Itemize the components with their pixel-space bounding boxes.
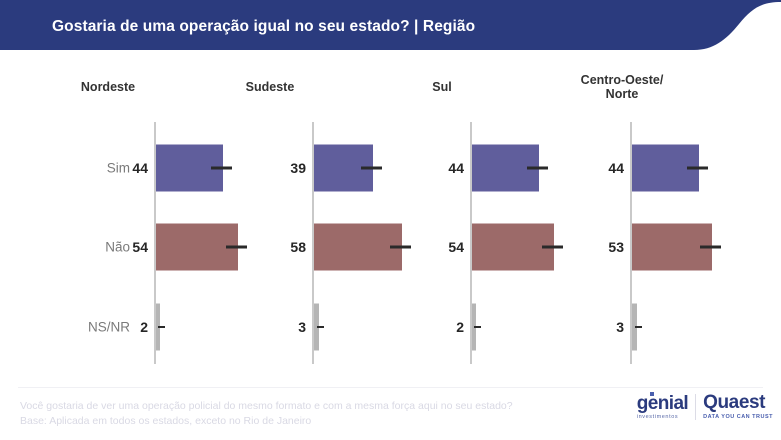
error-bar-nsnr <box>635 326 642 328</box>
value-label-nao: 53 <box>590 239 624 255</box>
quaest-logo-subtext: DATA YOU CAN TRUST <box>703 415 773 421</box>
genial-logo-mark <box>650 392 654 396</box>
panel-title-nordeste: Nordeste <box>28 80 188 94</box>
value-label-nsnr: 3 <box>590 319 624 335</box>
page-title: Gostaria de uma operação igual no seu es… <box>52 18 475 36</box>
footer-divider <box>18 387 763 388</box>
header-banner: Gostaria de uma operação igual no seu es… <box>0 0 781 60</box>
panel-title-sul: Sul <box>362 80 522 94</box>
quaest-logo: Quaest DATA YOU CAN TRUST <box>703 393 773 421</box>
value-label-nsnr: 3 <box>272 319 306 335</box>
genial-logo-subtext: investimentos <box>637 415 688 421</box>
value-label-nao: 54 <box>430 239 464 255</box>
value-label-nao: 54 <box>114 239 148 255</box>
footer: Você gostaria de ver uma operação polici… <box>0 385 781 440</box>
genial-logo: genial investimentos <box>637 394 688 421</box>
chart-plot-area: Sim Não NS/NR Nordeste 44 54 2 Sudeste 3… <box>0 60 781 385</box>
panel-title-centro-oeste-norte: Centro-Oeste/ Norte <box>534 73 710 101</box>
footer-base: Base: Aplicada em todos os estados, exce… <box>20 414 513 429</box>
value-label-sim: 44 <box>590 160 624 176</box>
genial-logo-text: genial <box>637 394 688 413</box>
panel-sudeste: Sudeste 39 58 3 <box>190 60 350 385</box>
panel-sul: Sul 44 54 2 <box>362 60 522 385</box>
panel-title-line-1: Centro-Oeste/ <box>534 73 710 87</box>
quaest-logo-text: Quaest <box>703 393 773 412</box>
panel-title-sudeste: Sudeste <box>190 80 350 94</box>
value-label-sim: 39 <box>272 160 306 176</box>
error-bar-nsnr <box>317 326 324 328</box>
value-label-nao: 58 <box>272 239 306 255</box>
logo-group: genial investimentos Quaest DATA YOU CAN… <box>637 393 773 421</box>
value-label-sim: 44 <box>430 160 464 176</box>
panel-nordeste: Nordeste 44 54 2 <box>28 60 188 385</box>
error-bar-nsnr <box>474 326 481 328</box>
error-bar-nao <box>700 246 721 249</box>
error-bar-nsnr <box>158 326 165 328</box>
error-bar-sim <box>687 167 708 170</box>
footer-question: Você gostaria de ver uma operação polici… <box>20 399 513 414</box>
logo-separator <box>695 394 696 420</box>
panel-centro-oeste-norte: Centro-Oeste/ Norte 44 53 3 <box>534 60 710 385</box>
panel-title-line-2: Norte <box>534 87 710 101</box>
footer-note: Você gostaria de ver uma operação polici… <box>20 399 513 429</box>
value-label-nsnr: 2 <box>114 319 148 335</box>
value-label-nsnr: 2 <box>430 319 464 335</box>
value-label-sim: 44 <box>114 160 148 176</box>
